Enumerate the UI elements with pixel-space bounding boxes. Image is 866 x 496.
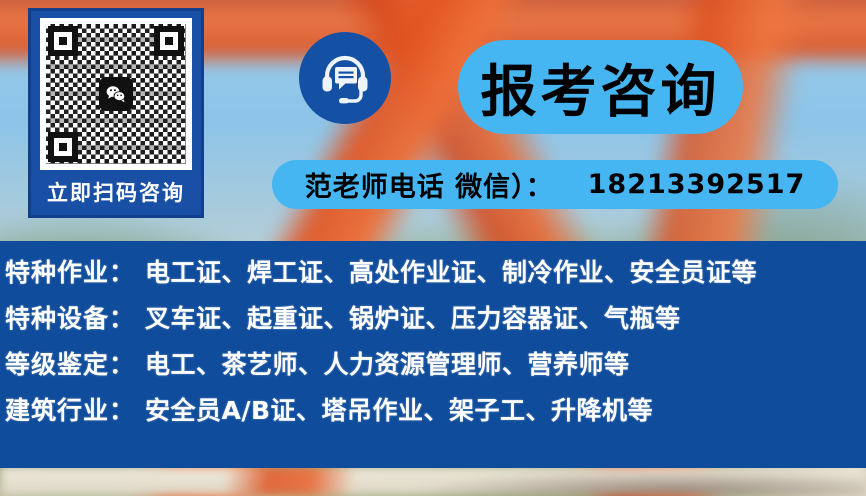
contact-phone-pill[interactable]: 范老师电话 微信）： 18213392517 [272,160,838,209]
category-row-special-operations: 特种作业： 电工证、焊工证、高处作业证、制冷作业、安全员证等 [0,253,866,299]
qr-code-card[interactable]: 立即扫码咨询 [28,8,204,218]
category-value: 电工证、焊工证、高处作业证、制冷作业、安全员证等 [145,253,757,289]
category-label: 特种作业： [5,253,135,289]
category-label: 建筑行业： [5,391,135,427]
category-value: 叉车证、起重证、锅炉证、压力容器证、气瓶等 [145,299,681,335]
qr-finder-top-right [154,26,184,56]
qr-card-caption: 立即扫码咨询 [47,177,185,207]
category-value: 电工、茶艺师、人力资源管理师、营养师等 [145,345,630,381]
headset-support-icon [299,32,391,124]
category-row-special-equipment: 特种设备： 叉车证、起重证、锅炉证、压力容器证、气瓶等 [0,299,866,345]
qr-code-image[interactable] [40,18,192,170]
promo-poster: 立即扫码咨询 报考咨询 范老师电话 微信）： 18213392517 特种作业：… [0,0,866,496]
contact-phone-label: 范老师电话 微信）： [305,165,554,204]
category-label: 等级鉴定： [5,345,135,381]
category-row-construction-industry: 建筑行业： 安全员A/B证、塔吊作业、架子工、升降机等 [0,391,866,437]
wechat-logo-icon [99,77,133,111]
certification-categories-panel: 特种作业： 电工证、焊工证、高处作业证、制冷作业、安全员证等 特种设备： 叉车证… [0,241,866,468]
consultation-title-pill[interactable]: 报考咨询 [458,40,743,134]
consultation-title-text: 报考咨询 [481,47,721,128]
background-photo-ground [0,466,866,496]
qr-finder-bottom-left [48,132,78,162]
contact-phone-number[interactable]: 18213392517 [588,169,806,200]
category-label: 特种设备： [5,299,135,335]
qr-finder-top-left [48,26,78,56]
category-row-grade-appraisal: 等级鉴定： 电工、茶艺师、人力资源管理师、营养师等 [0,345,866,391]
category-value: 安全员A/B证、塔吊作业、架子工、升降机等 [145,391,653,427]
